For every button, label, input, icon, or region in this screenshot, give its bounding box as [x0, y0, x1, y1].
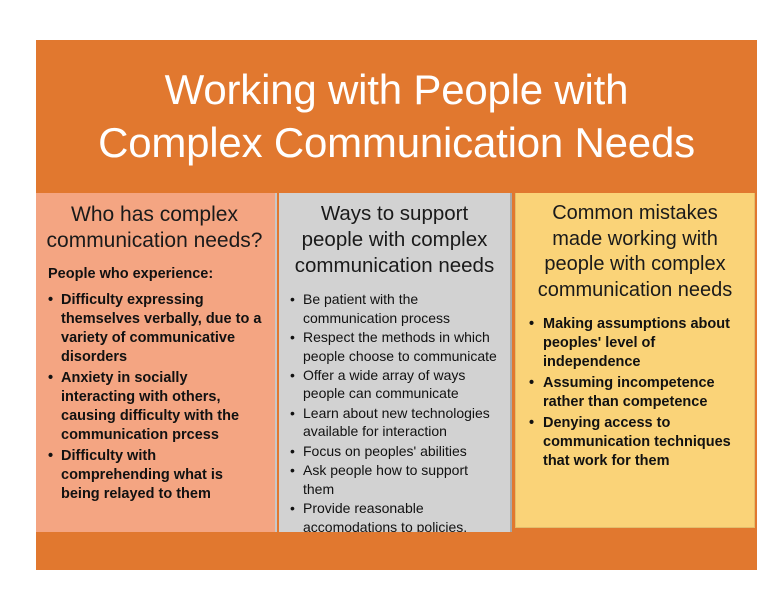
- bullet-dot-icon: •: [290, 499, 295, 517]
- panel-3-heading: Common mistakes made working with people…: [526, 201, 744, 303]
- bullet-dot-icon: •: [48, 291, 53, 310]
- slide-footer-band: [36, 532, 757, 570]
- bullet-text: Focus on peoples' abilities: [303, 442, 502, 460]
- panel-2-heading-line-1: Ways to support: [287, 201, 502, 227]
- bullet-dot-icon: •: [290, 442, 295, 460]
- panel-common-mistakes: Common mistakes made working with people…: [515, 193, 755, 528]
- bullet-text: Assuming incompetence rather than compet…: [543, 374, 744, 412]
- bullet-text: Learn about new technologies available f…: [303, 404, 502, 441]
- bullet-dot-icon: •: [529, 374, 534, 393]
- slide-title-band: Working with People with Complex Communi…: [36, 40, 757, 193]
- bullet-text: Denying access to communication techniqu…: [543, 414, 744, 471]
- list-item: • Denying access to communication techni…: [529, 414, 744, 471]
- slide-title-line-1: Working with People with: [165, 64, 629, 117]
- bullet-dot-icon: •: [529, 315, 534, 334]
- list-item: • Learn about new technologies available…: [290, 404, 502, 441]
- bullet-text: Difficulty expressing themselves verball…: [61, 291, 265, 367]
- panel-2-heading-line-3: communication needs: [287, 253, 502, 279]
- bullet-text: Offer a wide array of ways people can co…: [303, 366, 502, 403]
- panels-row: Who has complex communication needs? Peo…: [36, 193, 757, 538]
- panel-2-bullet-list: • Be patient with the communication proc…: [287, 290, 502, 532]
- panel-1-heading-line-1: Who has complex: [44, 202, 265, 228]
- bullet-text: Making assumptions about peoples' level …: [543, 315, 744, 372]
- bullet-dot-icon: •: [290, 404, 295, 422]
- bullet-dot-icon: •: [290, 328, 295, 346]
- list-item: • Respect the methods in which people ch…: [290, 328, 502, 365]
- bullet-text: Provide reasonable accomodations to poli…: [303, 499, 502, 532]
- list-item: • Provide reasonable accomodations to po…: [290, 499, 502, 532]
- bullet-text: Be patient with the communication proces…: [303, 290, 502, 327]
- list-item: • Ask people how to support them: [290, 461, 502, 498]
- bullet-dot-icon: •: [290, 461, 295, 479]
- bullet-text: Ask people how to support them: [303, 461, 502, 498]
- panel-who-has-complex-communication-needs: Who has complex communication needs? Peo…: [36, 193, 277, 532]
- bullet-dot-icon: •: [529, 414, 534, 433]
- panel-1-heading-line-2: communication needs?: [44, 228, 265, 254]
- list-item: • Difficulty expressing themselves verba…: [48, 291, 265, 367]
- slide-canvas: Working with People with Complex Communi…: [36, 40, 757, 570]
- bullet-dot-icon: •: [48, 369, 53, 388]
- bullet-dot-icon: •: [290, 366, 295, 384]
- bullet-dot-icon: •: [290, 290, 295, 308]
- slide-title-line-2: Complex Communication Needs: [98, 117, 695, 170]
- panel-3-bullet-list: • Making assumptions about peoples' leve…: [526, 315, 744, 471]
- list-item: • Anxiety in socially interacting with o…: [48, 369, 265, 445]
- list-item: • Making assumptions about peoples' leve…: [529, 315, 744, 372]
- list-item: • Be patient with the communication proc…: [290, 290, 502, 327]
- panel-2-heading: Ways to support people with complex comm…: [287, 201, 502, 279]
- list-item: • Offer a wide array of ways people can …: [290, 366, 502, 403]
- panel-1-heading: Who has complex communication needs?: [44, 202, 265, 255]
- list-item: • Focus on peoples' abilities: [290, 442, 502, 460]
- panel-3-heading-line-1: Common mistakes: [526, 201, 744, 227]
- list-item: • Difficulty with comprehending what is …: [48, 447, 265, 504]
- panel-3-heading-line-4: communication needs: [526, 278, 744, 304]
- panel-1-bullet-list: • Difficulty expressing themselves verba…: [44, 291, 265, 504]
- bullet-text: Difficulty with comprehending what is be…: [61, 447, 265, 504]
- panel-3-heading-line-2: made working with: [526, 227, 744, 253]
- bullet-dot-icon: •: [48, 447, 53, 466]
- panel-ways-to-support-people: Ways to support people with complex comm…: [279, 193, 512, 532]
- list-item: • Assuming incompetence rather than comp…: [529, 374, 744, 412]
- bullet-text: Anxiety in socially interacting with oth…: [61, 369, 265, 445]
- bullet-text: Respect the methods in which people choo…: [303, 328, 502, 365]
- panel-1-lead-text: People who experience:: [48, 265, 265, 284]
- panel-2-heading-line-2: people with complex: [287, 227, 502, 253]
- panel-3-heading-line-3: people with complex: [526, 252, 744, 278]
